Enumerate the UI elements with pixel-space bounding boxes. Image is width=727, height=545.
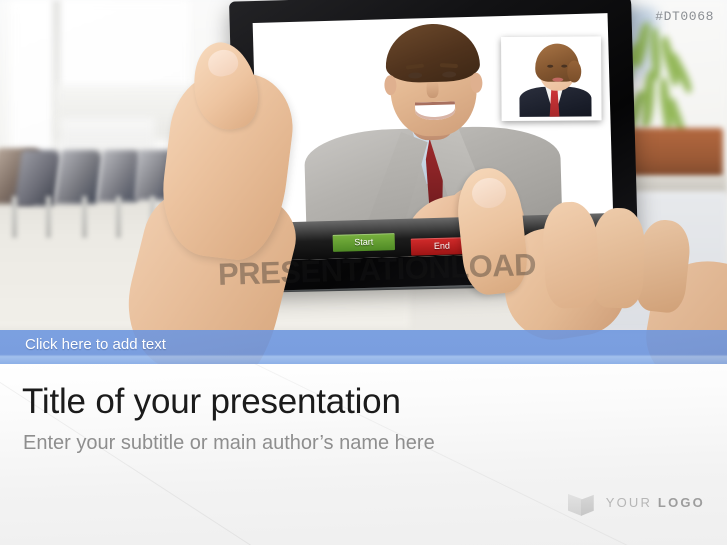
background-chair	[55, 150, 104, 204]
template-id-label: #DT0068	[655, 9, 714, 24]
logo-word-logo: LOGO	[658, 495, 705, 510]
logo-placeholder[interactable]: YOUR LOGO	[567, 487, 705, 517]
text-placeholder-label[interactable]: Click here to add text	[25, 336, 166, 353]
logo-text: YOUR LOGO	[606, 495, 705, 510]
start-button[interactable]: Start	[333, 233, 395, 252]
hero-photo: Start End PRESENTATIONLOAD	[0, 0, 727, 368]
logo-word-your: YOUR	[606, 495, 652, 510]
background-chair-leg	[46, 196, 51, 238]
background-chair-leg	[82, 196, 87, 238]
background-chair-leg	[12, 196, 17, 238]
page-title[interactable]: Title of your presentation	[22, 382, 401, 422]
presentation-slide: Start End PRESENTATIONLOAD Click here to	[0, 0, 727, 545]
page-subtitle[interactable]: Enter your subtitle or main author’s nam…	[23, 432, 435, 455]
video-participant-inset	[501, 36, 602, 121]
text-placeholder-bar[interactable]: Click here to add text	[0, 330, 727, 364]
hand-holding-tablet	[120, 28, 310, 358]
cube-icon	[567, 487, 595, 517]
title-panel: Title of your presentation Enter your su…	[0, 364, 727, 545]
